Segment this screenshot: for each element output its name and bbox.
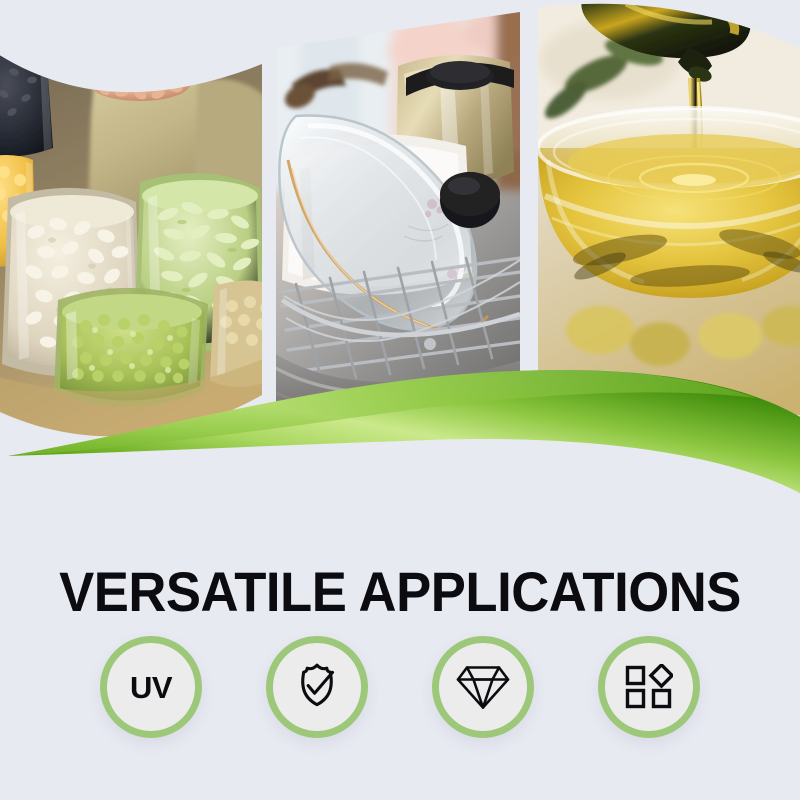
collage-panel-dishrack	[270, 0, 540, 470]
diamond-gem-icon	[456, 664, 510, 710]
feature-badge-uv[interactable]: UV	[100, 636, 202, 738]
feature-badge-grid[interactable]	[598, 636, 700, 738]
photo-collage	[0, 0, 800, 470]
uv-text-icon: UV	[130, 672, 172, 703]
feature-icon-row: UV	[0, 636, 800, 738]
collage-panel-oliveoil	[530, 0, 800, 470]
page-title: VERSATILE APPLICATIONS	[24, 562, 776, 622]
feature-badge-diamond[interactable]	[432, 636, 534, 738]
versatile-applications-banner: VERSATILE APPLICATIONS UV	[0, 0, 800, 800]
collage-panel-legumes	[0, 0, 278, 470]
shield-check-icon	[292, 661, 342, 713]
feature-badge-shield[interactable]	[266, 636, 368, 738]
grid-shapes-icon	[625, 664, 673, 710]
